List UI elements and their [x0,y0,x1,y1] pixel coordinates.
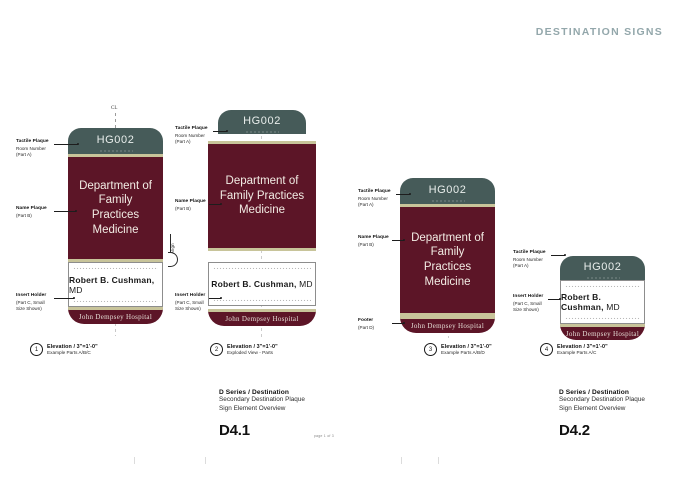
leader-line [54,144,78,145]
tactile-plaque-part-a: HG002 [68,128,163,154]
figure-caption-4: 4 Elevation / 3"=1'-0" Example Parts A/C [540,343,608,356]
sign-figure-3: HG002 Department of Family Practices Med… [400,178,495,333]
callout-tactile-plaque: Tactile Plaque Room Number (Part A) [358,189,410,209]
figure-title: Elevation / 3"=1'-0" [47,344,98,351]
hospital-name-text: John Dempsey Hospital [79,313,152,321]
sign-figure-2-part-a: HG002 [218,110,306,134]
title-block-line1: Secondary Destination Plaque [559,396,674,405]
name-plaque-part-b: Department of Family Practices Medicine [68,154,163,262]
figure-caption-3: 3 Elevation / 3"=1'-0" Example Parts A/B… [424,343,492,356]
callout-insert-holder: Insert Holder (Part C, Small Size Shown) [16,293,68,313]
page-title: DESTINATION SIGNS [536,26,663,38]
room-code-text: HG002 [560,262,645,273]
leader-line [213,131,227,132]
figure-title: Elevation / 3"=1'-0" [557,344,608,351]
leader-dot [73,297,75,299]
message-text: Department of Family Practices Medicine [400,231,495,290]
page-number: page 1 of 3 [314,434,334,438]
figure-number-bubble: 3 [424,343,437,356]
figure-number-bubble: 2 [210,343,223,356]
figure-subtitle: Example Parts A/B/D [441,350,492,356]
title-block-line1: Secondary Destination Plaque [219,396,334,405]
callout-name-plaque: Name Plaque (Part B) [175,199,227,212]
leader-line [396,194,410,195]
title-block-line2: Sign Element Overview [559,405,674,414]
hospital-name-text: John Dempsey Hospital [566,330,639,338]
callout-insert-holder: Insert Holder (Part C, Small Size Shown) [513,294,565,314]
braille-dots [245,130,279,134]
sign-figure-2-part-b: Department of Family Practices Medicine [208,141,316,251]
figure-title: Elevation / 3"=1'-0" [227,344,278,351]
align-arc [168,252,178,267]
title-block-d41: D Series / Destination Secondary Destina… [219,389,334,439]
callout-name-plaque: Name Plaque (Part B) [358,235,410,248]
callout-tactile-plaque: Tactile Plaque Room Number (Part A) [16,139,68,159]
insert-holder-part-c: Robert B. Cushman, MD [68,262,163,307]
callout-tactile-plaque: Tactile Plaque Room Number (Part A) [175,126,227,146]
footer-part-d: John Dempsey Hospital [560,324,645,340]
braille-dots [99,149,133,153]
callout-footer: Footer (Part D) [358,318,410,331]
message-text: Department of Family Practices Medicine [214,174,310,218]
callout-insert-holder: Insert Holder (Part C, Small Size Shown) [175,293,227,313]
insert-name-text: Robert B. Cushman, MD [211,279,313,289]
callout-tactile-plaque: Tactile Plaque Room Number (Part A) [513,250,565,270]
leader-line [551,255,565,256]
hospital-name-text: John Dempsey Hospital [411,322,484,330]
registration-tick [401,457,402,464]
leader-dot [220,203,222,205]
registration-tick [205,457,206,464]
footer-part-d: John Dempsey Hospital [68,307,163,324]
callout-name-plaque: Name Plaque (Part B) [16,206,68,219]
sheet-code: D4.2 [559,422,674,439]
insert-name-text: Robert B. Cushman, MD [561,292,644,312]
name-plaque-part-b: Department of Family Practices Medicine [208,141,316,251]
leader-line [54,211,76,212]
figure-caption-2: 2 Elevation / 3"=1'-0" Exploded View - P… [210,343,278,356]
room-code-text: HG002 [68,135,163,146]
sign-figure-1: HG002 Department of Family Practices Med… [68,128,163,324]
footer-part-d: John Dempsey Hospital [400,316,495,333]
drawing-sheet: DESTINATION SIGNS CL HG002 Department of… [0,0,695,500]
figure-title: Elevation / 3"=1'-0" [441,344,492,351]
leader-dot [403,239,405,241]
insert-holder-part-c: Robert B. Cushman, MD [560,280,645,324]
title-block-line2: Sign Element Overview [219,405,334,414]
insert-name-text: Robert B. Cushman, MD [69,275,162,295]
room-code-text: HG002 [218,116,306,127]
tactile-plaque-part-a: HG002 [218,110,306,134]
leader-dot [403,322,405,324]
leader-dot [564,254,566,256]
title-block-series: D Series / Destination [559,389,674,396]
leader-line [54,298,74,299]
name-plaque-part-b: Department of Family Practices Medicine [400,204,495,316]
figure-subtitle: Example Parts A/B/C [47,350,98,356]
figure-number-bubble: 1 [30,343,43,356]
leader-dot [409,193,411,195]
registration-tick [438,457,439,464]
leader-dot [77,143,79,145]
message-text: Department of Family Practices Medicine [68,179,163,238]
tactile-plaque-part-a: HG002 [560,256,645,280]
hospital-name-text: John Dempsey Hospital [225,315,298,323]
figure-subtitle: Exploded View - Parts [227,350,278,356]
leader-dot [75,210,77,212]
centerline-label: CL [111,106,117,111]
figure-subtitle: Example Parts A/C [557,350,608,356]
title-block-series: D Series / Destination [219,389,334,396]
braille-dots [431,199,465,203]
registration-tick [134,457,135,464]
title-block-d42: D Series / Destination Secondary Destina… [559,389,674,439]
leader-dot [226,130,228,132]
room-code-text: HG002 [400,185,495,196]
leader-dot [220,297,222,299]
figure-number-bubble: 4 [540,343,553,356]
figure-caption-1: 1 Elevation / 3"=1'-0" Example Parts A/B… [30,343,98,356]
sign-figure-4: HG002 Robert B. Cushman, MD John Dempsey… [560,256,645,340]
tactile-plaque-part-a: HG002 [400,178,495,204]
leader-dot [559,298,561,300]
